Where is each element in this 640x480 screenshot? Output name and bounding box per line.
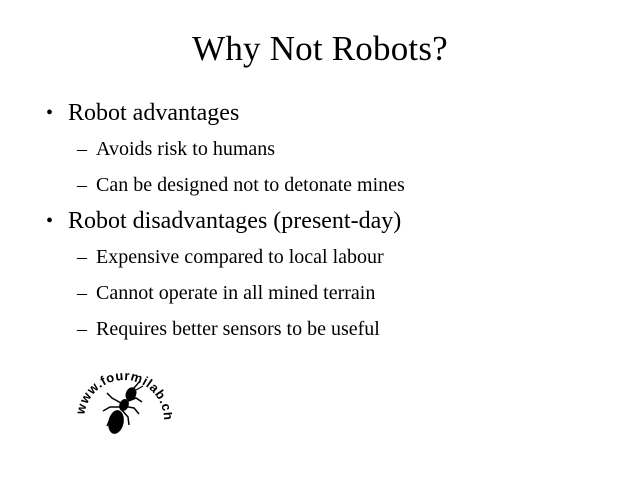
list-item-label: Can be designed not to detonate mines <box>96 174 405 196</box>
list-item: • Robot disadvantages (present-day) <box>0 203 640 239</box>
dash-marker-icon: – <box>77 275 87 311</box>
list-item-label: Robot disadvantages (present-day) <box>68 208 401 234</box>
list-item-label: Requires better sensors to be useful <box>96 318 380 340</box>
bullet-marker-icon: • <box>46 203 53 239</box>
page-title: Why Not Robots? <box>0 28 640 70</box>
list-item-label: Expensive compared to local labour <box>96 246 384 268</box>
list-item: – Avoids risk to humans <box>0 131 640 167</box>
bullet-list: • Robot advantages – Avoids risk to huma… <box>0 95 640 347</box>
list-item-label: Cannot operate in all mined terrain <box>96 282 375 304</box>
svg-text:www.fourmilab.ch: www.fourmilab.ch <box>76 372 172 421</box>
dash-marker-icon: – <box>77 167 87 203</box>
dash-marker-icon: – <box>77 239 87 275</box>
dash-marker-icon: – <box>77 131 87 167</box>
list-item: – Cannot operate in all mined terrain <box>0 275 640 311</box>
list-item: – Requires better sensors to be useful <box>0 311 640 347</box>
list-item: – Expensive compared to local labour <box>0 239 640 275</box>
list-item: – Can be designed not to detonate mines <box>0 167 640 203</box>
list-item-label: Avoids risk to humans <box>96 138 275 160</box>
list-item: • Robot advantages <box>0 95 640 131</box>
slide: Why Not Robots? • Robot advantages – Avo… <box>0 0 640 480</box>
dash-marker-icon: – <box>77 311 87 347</box>
bullet-marker-icon: • <box>46 95 53 131</box>
list-item-label: Robot advantages <box>68 100 239 126</box>
fourmilab-ant-logo-icon: www.fourmilab.ch <box>76 372 172 454</box>
